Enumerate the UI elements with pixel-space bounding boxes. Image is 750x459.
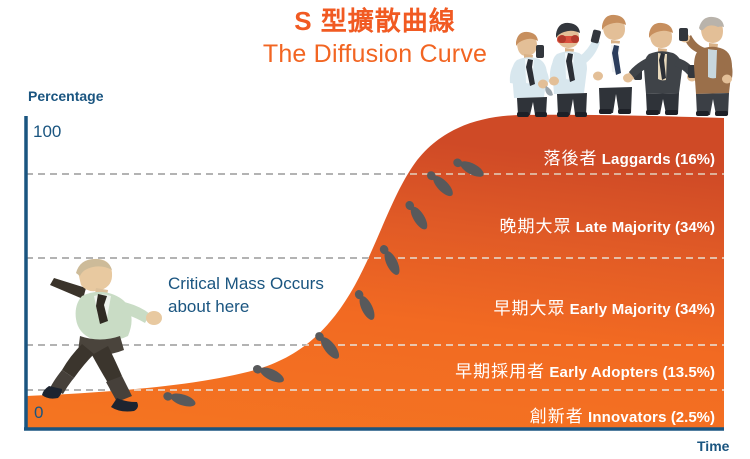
segment-label-early-adopters: 早期採用者 Early Adopters (13.5%) [455,357,715,382]
segment-label-early-adopters-en: Early Adopters [549,364,658,381]
y-axis-label: Percentage [28,88,103,104]
figure-early-majority [593,15,642,114]
segment-label-laggards-pct: (16%) [675,151,715,168]
critical-mass-annotation: Critical Mass Occurs about here [168,272,358,318]
segment-label-early-adopters-pct: (13.5%) [662,364,715,381]
running-businessman-illustration [38,252,166,412]
segment-label-early-majority-en: Early Majority [570,301,671,318]
segment-label-innovators-zh: 創新者 [530,407,584,426]
segment-label-innovators: 創新者 Innovators (2.5%) [530,402,715,427]
critical-mass-line-1: Critical Mass Occurs [168,272,358,295]
figure-early-adopter [549,23,601,117]
segment-label-late-majority-pct: (34%) [675,219,715,236]
segment-label-innovators-pct: (2.5%) [671,409,715,426]
critical-mass-line-2: about here [168,295,358,318]
segment-label-early-majority-zh: 早期大眾 [493,299,565,318]
segment-label-late-majority: 晚期大眾 Late Majority (34%) [500,212,715,237]
segment-label-early-adopters-zh: 早期採用者 [455,362,545,381]
segment-label-innovators-en: Innovators [588,409,667,426]
segment-label-laggards-en: Laggards [602,151,671,168]
y-axis-min-tick: 0 [34,403,43,423]
segment-label-early-majority: 早期大眾 Early Majority (34%) [493,294,715,319]
adopter-figures-illustration [495,8,750,120]
segment-label-laggards-zh: 落後者 [544,149,598,168]
x-axis-label: Time [697,438,729,454]
segment-label-late-majority-zh: 晚期大眾 [500,217,572,236]
segment-label-laggards: 落後者 Laggards (16%) [544,144,715,169]
diffusion-curve-infographic: S 型擴散曲線 The Diffusion Curve [0,0,750,459]
figure-innovator [510,32,553,117]
y-axis-max-tick: 100 [33,122,61,142]
segment-label-early-majority-pct: (34%) [675,301,715,318]
segment-label-late-majority-en: Late Majority [576,219,671,236]
